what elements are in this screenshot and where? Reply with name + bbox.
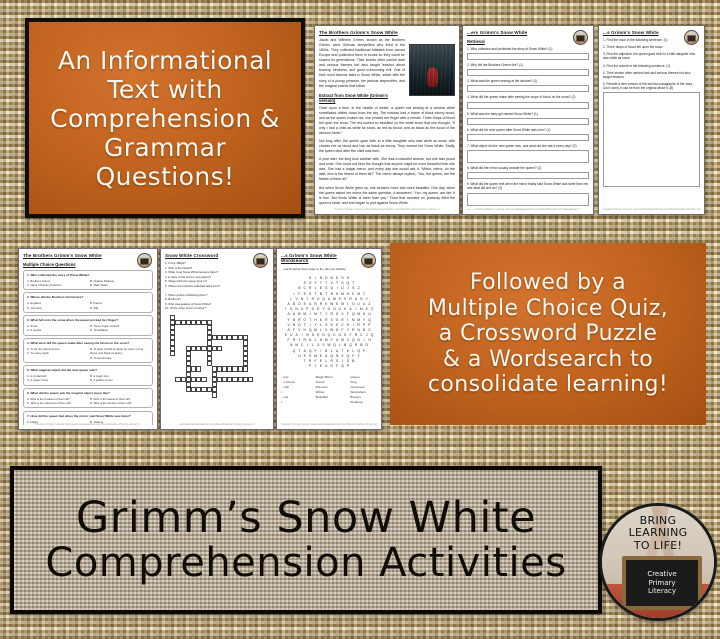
page-grammar-questions: ...s Grimm's Snow White 1. Find the noun… bbox=[598, 25, 705, 215]
mc-subtitle: Multiple Choice Questions bbox=[23, 262, 153, 267]
multiple-choice-card: 1. Who collected the story of Snow White… bbox=[23, 270, 153, 290]
mc-option-column[interactable]: B. A magic ringD. A golden crown bbox=[90, 374, 149, 382]
page-title: ...s Grimm's Snow White bbox=[603, 30, 683, 35]
wordsearch-word-column: QueenKingOvercomeStorytellersBraveryKind… bbox=[350, 375, 377, 405]
logo-slogan: BRING LEARNING TO LIFE! bbox=[602, 515, 714, 552]
mc-option[interactable]: C. A magic mirror bbox=[27, 378, 86, 382]
wordsearch-letter[interactable]: T bbox=[356, 354, 361, 359]
answer-box[interactable] bbox=[603, 92, 700, 187]
grammar-question-item: 3. Find the adjective: the queen gave bi… bbox=[603, 52, 700, 60]
mc-option[interactable]: C. A needle bbox=[27, 328, 86, 332]
grammar-question-item: 2. Three drops of blood fell upon the sn… bbox=[603, 45, 700, 49]
grammar-question-item: 4. Find the adverb in the following sent… bbox=[603, 64, 700, 68]
answer-box[interactable] bbox=[467, 134, 589, 141]
wordsearch-letter[interactable]: P bbox=[345, 364, 350, 369]
wordsearch-letter[interactable]: F bbox=[361, 349, 366, 354]
page-crossword: Snow White Crossword 1. In the 1800s?2. … bbox=[160, 248, 274, 430]
page-reading-text: The Brothers Grimm's Snow White Jacob an… bbox=[314, 25, 460, 215]
mc-option[interactable]: D. Italy bbox=[90, 306, 149, 310]
crossword-empty bbox=[253, 392, 258, 397]
reading-paragraph-3: Not long after, the queen gave birth to … bbox=[319, 139, 455, 154]
mc-option[interactable]: C. Germany bbox=[27, 306, 86, 310]
mc-option[interactable]: B. To have a child as white as snow, red… bbox=[90, 347, 149, 355]
product-title-line-2: Comprehension Activities bbox=[45, 542, 566, 584]
question-item: 6. What did the new queen after Snow Whi… bbox=[467, 128, 589, 132]
question-item: 1. Who collected and published the story… bbox=[467, 47, 589, 51]
promo-banner-right-text: Followed by aMultiple Choice Quiz,a Cros… bbox=[420, 270, 676, 398]
mc-question-text: 2. Where did the Brothers Grimm live? bbox=[27, 295, 149, 299]
mc-option[interactable]: C. Who is the cleverest of them all? bbox=[27, 401, 86, 405]
answer-box[interactable] bbox=[467, 69, 589, 76]
wordsearch-instruction: ...words below that relate to the famous… bbox=[281, 267, 377, 271]
reading-paragraph-2: Once upon a time, in the middle of winte… bbox=[319, 106, 455, 136]
mc-question-text: 7. How did the queen feel when the mirro… bbox=[27, 414, 149, 418]
mc-options: A. To be the richest queenC. To marry ag… bbox=[27, 347, 149, 360]
mc-option[interactable]: C. To marry again bbox=[27, 351, 86, 355]
mc-option-column[interactable]: B. To have a child as white as snow, red… bbox=[90, 347, 149, 360]
reading-paragraph-5: But when Snow White grew up, she became … bbox=[319, 186, 455, 206]
mc-options: A. A crystal ballC. A magic mirrorB. A m… bbox=[27, 374, 149, 382]
chalkboard-icon: Creative Primary Literacy bbox=[622, 556, 702, 610]
page-title: The Brothers Grimm's Snow White bbox=[319, 30, 455, 35]
mc-options: A. SnowC. A needleB. Three drops of bloo… bbox=[27, 324, 149, 332]
grammar-question-item: 1. Find the noun in the following senten… bbox=[603, 38, 700, 42]
promo-banner-top: An InformationalText withComprehension &… bbox=[25, 18, 305, 218]
answer-box[interactable] bbox=[467, 150, 589, 163]
multiple-choice-card: 3. What fell onto the snow when the quee… bbox=[23, 315, 153, 335]
wordsearch-word: Kindness bbox=[350, 400, 377, 405]
multiple-choice-card: 5. What magical object did the new queen… bbox=[23, 365, 153, 385]
page-wordsearch: ...s Grimm's Snow White Wordsearch ...wo… bbox=[276, 248, 382, 430]
crossword-grid bbox=[165, 315, 269, 410]
product-title-bar: Grimm’s Snow White Comprehension Activit… bbox=[10, 466, 602, 614]
wordsearch-word-column: Magic MirrorForestPrincessWinterBeautifu… bbox=[316, 375, 343, 405]
mc-question-text: 4. What wish did the queen make after se… bbox=[27, 341, 149, 345]
page-title: The Brothers Grimm's Snow White bbox=[23, 253, 133, 258]
crossword-clue: 10. Of the other Grimm brother? bbox=[165, 306, 269, 311]
answer-box[interactable] bbox=[467, 118, 589, 125]
answer-box[interactable] bbox=[467, 193, 589, 206]
mc-options: A. Brothers GrimmC. Hans Christian Ander… bbox=[27, 279, 149, 287]
wordsearch-word: t bbox=[281, 400, 308, 405]
multiple-choice-list: 1. Who collected the story of Snow White… bbox=[23, 270, 153, 426]
mc-option[interactable]: D. Who is the kindest of them all? bbox=[90, 401, 149, 405]
page-title: ...ers Grimm's Snow White bbox=[467, 30, 572, 35]
multiple-choice-card: 4. What wish did the queen make after se… bbox=[23, 338, 153, 363]
question-item: 8. What did the mirror usually answer th… bbox=[467, 166, 589, 170]
snow-white-forest-image bbox=[409, 44, 455, 96]
mc-option-column[interactable]: B. Who is the fairest of them all?D. Who… bbox=[90, 397, 149, 405]
mc-option[interactable]: D. Mark Twain bbox=[90, 283, 149, 287]
question-item: 4. What did the queen make after seeing … bbox=[467, 95, 589, 99]
brand-logo-badge: BRING LEARNING TO LIFE! Creative Primary… bbox=[599, 503, 717, 621]
question-item: 5. What was the baby girl named Snow Whi… bbox=[467, 112, 589, 116]
mc-option-column[interactable]: A. A crystal ballC. A magic mirror bbox=[27, 374, 86, 382]
wordsearch-word-list: ...ime...s Grimm...rralli...rrortMagic M… bbox=[281, 375, 377, 405]
mc-option-column[interactable]: A. Who is the loveliest of them all?C. W… bbox=[27, 397, 86, 405]
mc-option-column[interactable]: B. FranceD. Italy bbox=[90, 301, 149, 309]
question-item: 2. Why did the Brothers Grimm live? (1) bbox=[467, 63, 589, 67]
multiple-choice-card: 6. What did the queen ask the magical ob… bbox=[23, 388, 153, 408]
promo-banner-top-text: An InformationalText withComprehension &… bbox=[42, 46, 288, 191]
page-footer: Creative Primary Literacy www.teacherspa… bbox=[281, 423, 377, 426]
mc-question-text: 3. What fell onto the snow when the quee… bbox=[27, 318, 149, 322]
mc-option-column[interactable]: B. Charles DickensD. Mark Twain bbox=[90, 279, 149, 287]
logo-slogan-line-3: TO LIFE! bbox=[602, 540, 714, 552]
page-footer: Creative Primary Literacy www.teacherspa… bbox=[319, 208, 455, 211]
chalk-line-3: Literacy bbox=[648, 587, 676, 596]
mc-options: A. Who is the loveliest of them all?C. W… bbox=[27, 397, 149, 405]
wordsearch-word: Beautiful bbox=[316, 395, 343, 400]
answer-box[interactable] bbox=[467, 172, 589, 179]
mc-options: A. EnglandC. GermanyB. FranceD. Italy bbox=[27, 301, 149, 309]
wordsearch-word-column: ...ime...s Grimm...rralli...rrort bbox=[281, 375, 308, 405]
reading-paragraph-4: A year later, the king took another wife… bbox=[319, 157, 455, 182]
page-title: Snow White Crossword bbox=[165, 253, 250, 258]
mc-option-column[interactable]: A. Brothers GrimmC. Hans Christian Ander… bbox=[27, 279, 86, 287]
question-item: 9. What did the queen feel when the mirr… bbox=[467, 182, 589, 190]
page-comprehension-questions: ...ers Grimm's Snow White Retrieval 1. W… bbox=[462, 25, 594, 215]
mc-option[interactable]: D. Snowflakes bbox=[90, 328, 149, 332]
question-item: 7. What object did the new queen own, an… bbox=[467, 144, 589, 148]
page-footer: Creative Primary Literacy www.teacherspa… bbox=[23, 423, 153, 426]
mc-question-text: 5. What magical object did the new queen… bbox=[27, 368, 149, 372]
answer-box[interactable] bbox=[467, 53, 589, 60]
wordsearch-letter[interactable]: B bbox=[351, 359, 356, 364]
crossword-clue-list: 1. In the 1800s?2. Who is the fairest?3.… bbox=[165, 261, 269, 311]
question-item: 3. What was the queen sewing at the wind… bbox=[467, 79, 589, 83]
promo-banner-right: Followed by aMultiple Choice Quiz,a Cros… bbox=[390, 243, 706, 425]
page-title: ...s Grimm's Snow White Wordsearch bbox=[281, 253, 361, 263]
logo-slogan-line-2: LEARNING bbox=[602, 527, 714, 539]
chalk-line-1: Creative bbox=[647, 570, 676, 579]
question-list: 1. Who collected and published the story… bbox=[467, 47, 589, 210]
mc-option[interactable]: D. A golden crown bbox=[90, 378, 149, 382]
grammar-question-list: 1. Find the noun in the following senten… bbox=[603, 38, 700, 187]
page-footer: www.teacherspayteachers.com/Store/Creati… bbox=[165, 423, 269, 426]
multiple-choice-card: 2. Where did the Brothers Grimm live?A. … bbox=[23, 292, 153, 312]
page-footer: Creative Primary Literacy www.teacherspa… bbox=[603, 208, 700, 211]
page-multiple-choice: The Brothers Grimm's Snow White Multiple… bbox=[18, 248, 158, 430]
mc-question-text: 1. Who collected the story of Snow White… bbox=[27, 273, 149, 277]
mc-option-column[interactable]: B. Three drops of bloodD. Snowflakes bbox=[90, 324, 149, 332]
grammar-question-item: 6. Rewrite a new version of the last few… bbox=[603, 82, 700, 90]
mc-option-column[interactable]: A. SnowC. A needle bbox=[27, 324, 86, 332]
mc-option[interactable]: C. Hans Christian Andersen bbox=[27, 283, 86, 287]
grammar-question-item: 5. Their stories often carried dark and … bbox=[603, 71, 700, 79]
mc-question-text: 6. What did the queen ask the magical ob… bbox=[27, 391, 149, 395]
page-footer: Creative Primary Literacy www.teacherspa… bbox=[467, 208, 589, 211]
product-title-line-1: Grimm’s Snow White bbox=[76, 496, 536, 542]
answer-box[interactable] bbox=[467, 102, 589, 109]
mc-option-column[interactable]: A. EnglandC. Germany bbox=[27, 301, 86, 309]
mc-option-column[interactable]: A. To be the richest queenC. To marry ag… bbox=[27, 347, 86, 360]
crossword-row bbox=[165, 392, 269, 397]
questions-subtitle: Retrieval bbox=[467, 39, 589, 44]
wordsearch-letter-grid: KINDNESSSGYTTVTSQTNCRLESQIUJSZIFESTBTBHM… bbox=[281, 276, 377, 369]
mc-option[interactable]: D. To see Europe bbox=[90, 356, 149, 360]
chalk-line-2: Primary bbox=[648, 579, 675, 588]
answer-box[interactable] bbox=[467, 85, 589, 92]
wordsearch-row: PJEAGFQP bbox=[307, 364, 350, 369]
